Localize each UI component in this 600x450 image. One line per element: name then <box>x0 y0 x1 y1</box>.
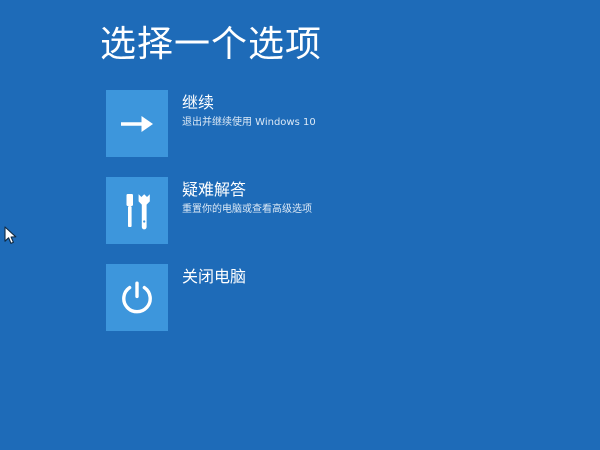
arrow-right-icon <box>119 109 155 139</box>
option-tile-turn-off-pc[interactable] <box>106 264 168 331</box>
option-text-troubleshoot: 疑难解答 重置你的电脑或查看高级选项 <box>168 177 312 217</box>
option-text-continue: 继续 退出并继续使用 Windows 10 <box>168 90 316 130</box>
option-tile-troubleshoot[interactable] <box>106 177 168 244</box>
option-title: 继续 <box>182 92 316 114</box>
power-icon <box>118 279 156 317</box>
option-subtitle: 退出并继续使用 Windows 10 <box>182 115 316 130</box>
boot-options-screen: 选择一个选项 继续 退出并继续使用 Windows 10 <box>0 0 600 450</box>
option-title: 关闭电脑 <box>182 266 246 288</box>
mouse-pointer-icon <box>4 226 18 246</box>
screwdriver-wrench-icon <box>120 192 154 230</box>
options-list: 继续 退出并继续使用 Windows 10 <box>106 90 526 331</box>
page-title: 选择一个选项 <box>100 22 322 68</box>
option-item-troubleshoot[interactable]: 疑难解答 重置你的电脑或查看高级选项 <box>106 177 526 244</box>
option-item-turn-off-pc[interactable]: 关闭电脑 <box>106 264 526 331</box>
option-subtitle: 重置你的电脑或查看高级选项 <box>182 202 312 217</box>
option-title: 疑难解答 <box>182 179 312 201</box>
option-tile-continue[interactable] <box>106 90 168 157</box>
option-text-turn-off-pc: 关闭电脑 <box>168 264 246 288</box>
option-item-continue[interactable]: 继续 退出并继续使用 Windows 10 <box>106 90 526 157</box>
